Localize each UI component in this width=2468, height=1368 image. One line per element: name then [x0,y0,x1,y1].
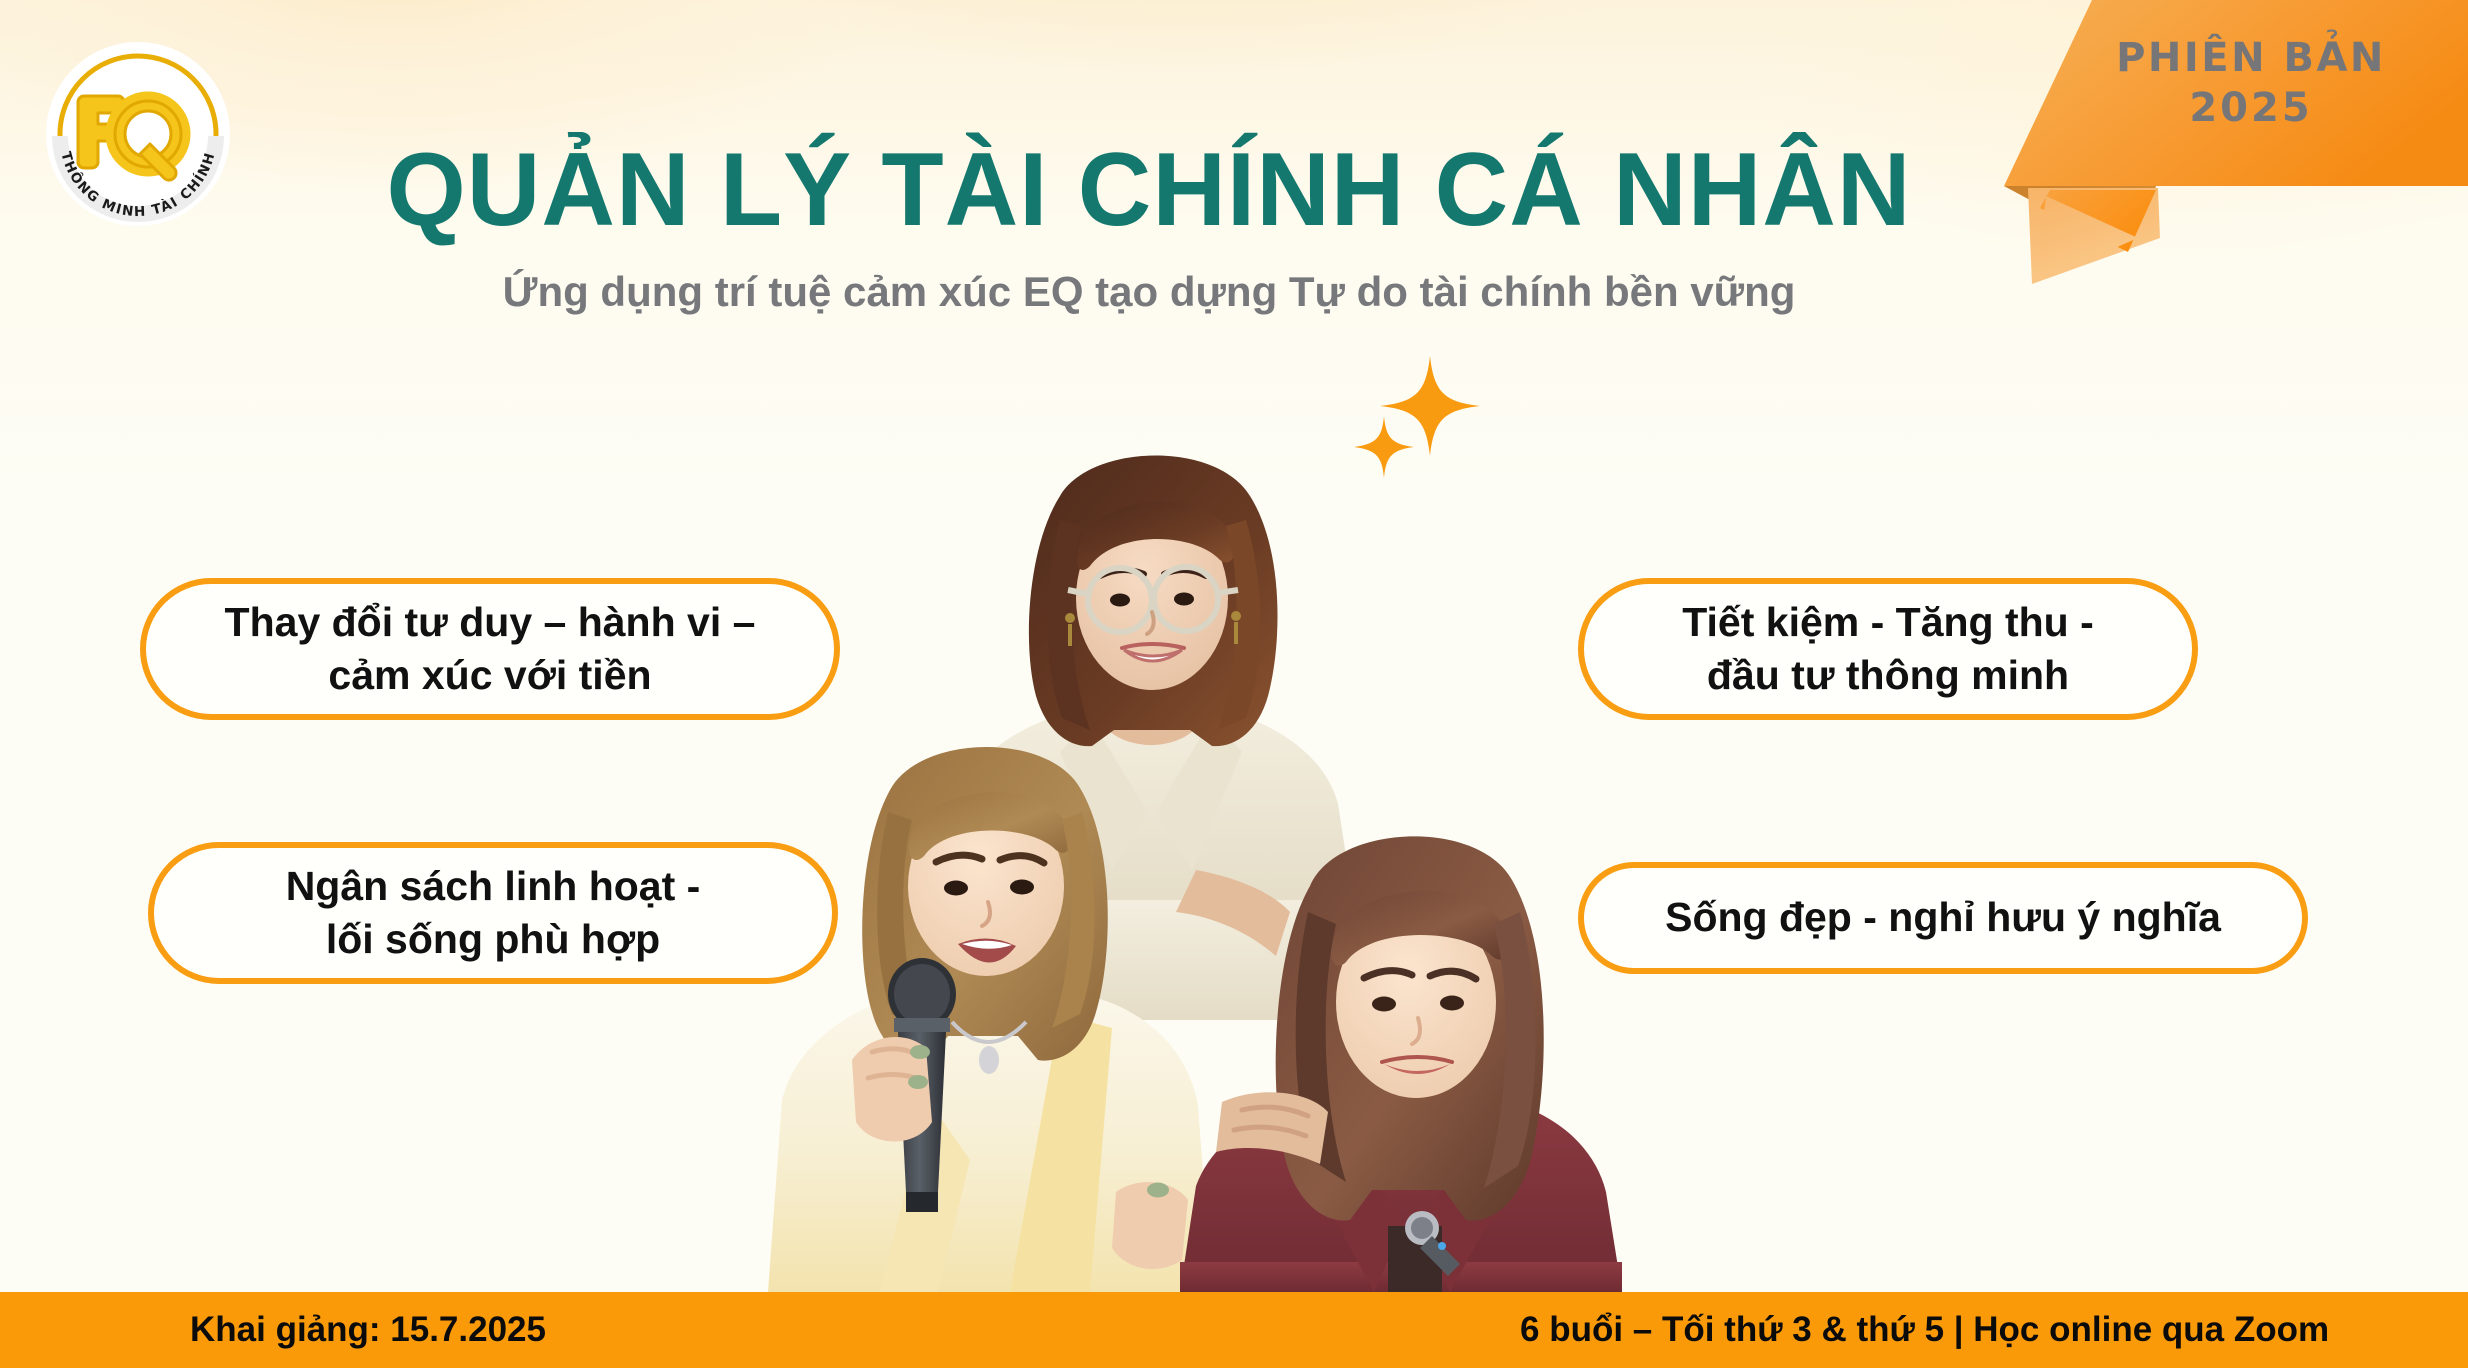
feature-pill-budget[interactable]: Ngân sách linh hoạt - lối sống phù hợp [148,842,838,984]
footer-start-date: Khai giảng: 15.7.2025 [190,1310,546,1350]
feature-pill-mindset-text: Thay đổi tư duy – hành vi – cảm xúc với … [225,596,756,703]
feature-pill-budget-text: Ngân sách linh hoạt - lối sống phù hợp [286,860,701,967]
pill-line-1: Tiết kiệm - Tăng thu - [1682,599,2094,645]
pill-line-1: Thay đổi tư duy – hành vi – [225,599,756,645]
feature-pill-retirement[interactable]: Sống đẹp - nghỉ hưu ý nghĩa [1578,862,2308,974]
footer-bar: Khai giảng: 15.7.2025 6 buổi – Tối thứ 3… [0,1292,2468,1368]
feature-pill-retirement-text: Sống đẹp - nghỉ hưu ý nghĩa [1665,891,2221,944]
feature-pill-mindset[interactable]: Thay đổi tư duy – hành vi – cảm xúc với … [140,578,840,720]
pill-line-2: đầu tư thông minh [1707,652,2069,698]
feature-pill-saving-text: Tiết kiệm - Tăng thu - đầu tư thông minh [1682,596,2094,703]
banner-canvas: THÔNG MINH TÀI CHÍNH [0,0,2468,1368]
pill-line-1: Ngân sách linh hoạt - [286,863,701,909]
pill-line-2: cảm xúc với tiền [328,652,651,698]
pill-line-2: lối sống phù hợp [326,916,660,962]
speakers-photo-group [760,400,1660,1292]
feature-pill-saving[interactable]: Tiết kiệm - Tăng thu - đầu tư thông minh [1578,578,2198,720]
footer-schedule: 6 buổi – Tối thứ 3 & thứ 5 | Học online … [1520,1310,2329,1350]
headline-block: QUẢN LÝ TÀI CHÍNH CÁ NHÂN Ứng dụng trí t… [0,138,2468,316]
page-title: QUẢN LÝ TÀI CHÍNH CÁ NHÂN [23,138,2275,242]
page-subtitle: Ứng dụng trí tuệ cảm xúc EQ tạo dựng Tự … [0,268,2298,316]
